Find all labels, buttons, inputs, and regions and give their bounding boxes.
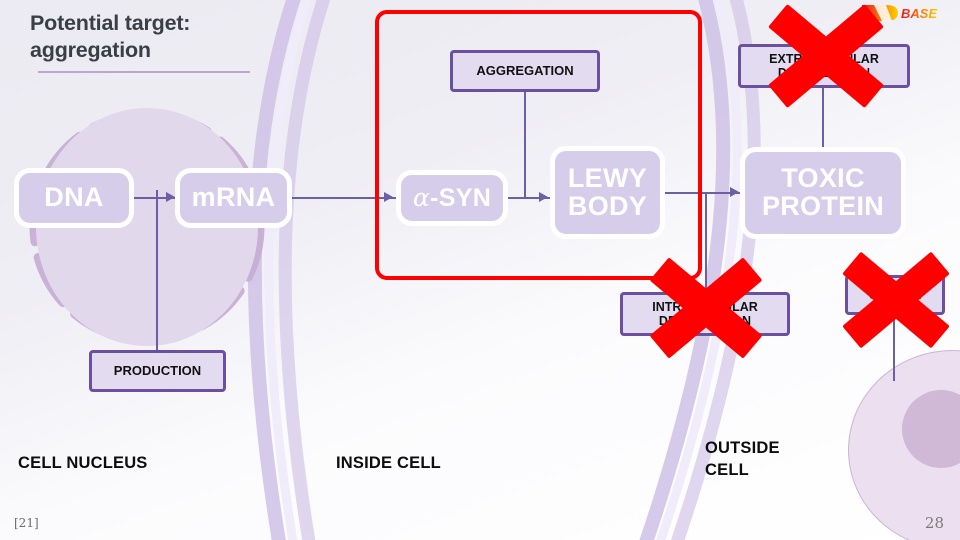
highlight-rectangle-aggregation [375,10,702,280]
x-mark-intracellular-degradation [644,258,768,358]
node-toxic-protein[interactable]: TOXIC PROTEIN [740,147,906,239]
arrowhead-lewy-to-toxic [730,187,739,197]
node-toxic-protein-label: TOXIC PROTEIN [745,165,901,220]
node-dna[interactable]: DNA [14,168,134,228]
arrowhead-dna-to-mrna [166,192,175,202]
x-mark-extracellular-degradation [762,4,890,108]
slide-canvas: Potential target: aggregation BASE DNA m… [0,0,960,540]
annotation-production-label: PRODUCTION [114,363,201,378]
annotation-production[interactable]: PRODUCTION [89,350,226,392]
page-number: 28 [925,514,944,532]
x-mark-uptake [838,252,954,348]
region-label-inside-cell: INSIDE CELL [336,452,441,474]
node-mrna[interactable]: mRNA [175,168,292,228]
svg-text:BASE: BASE [901,6,937,21]
node-dna-label: DNA [44,184,103,212]
region-label-cell-nucleus: CELL NUCLEUS [18,452,148,474]
connector-production-vertical [156,190,158,352]
node-mrna-label: mRNA [192,184,276,212]
region-label-outside-cell: OUTSIDE CELL [705,437,780,482]
page-title: Potential target: aggregation [30,10,290,63]
reference-citation: [21] [14,516,39,530]
title-underline [38,71,250,73]
